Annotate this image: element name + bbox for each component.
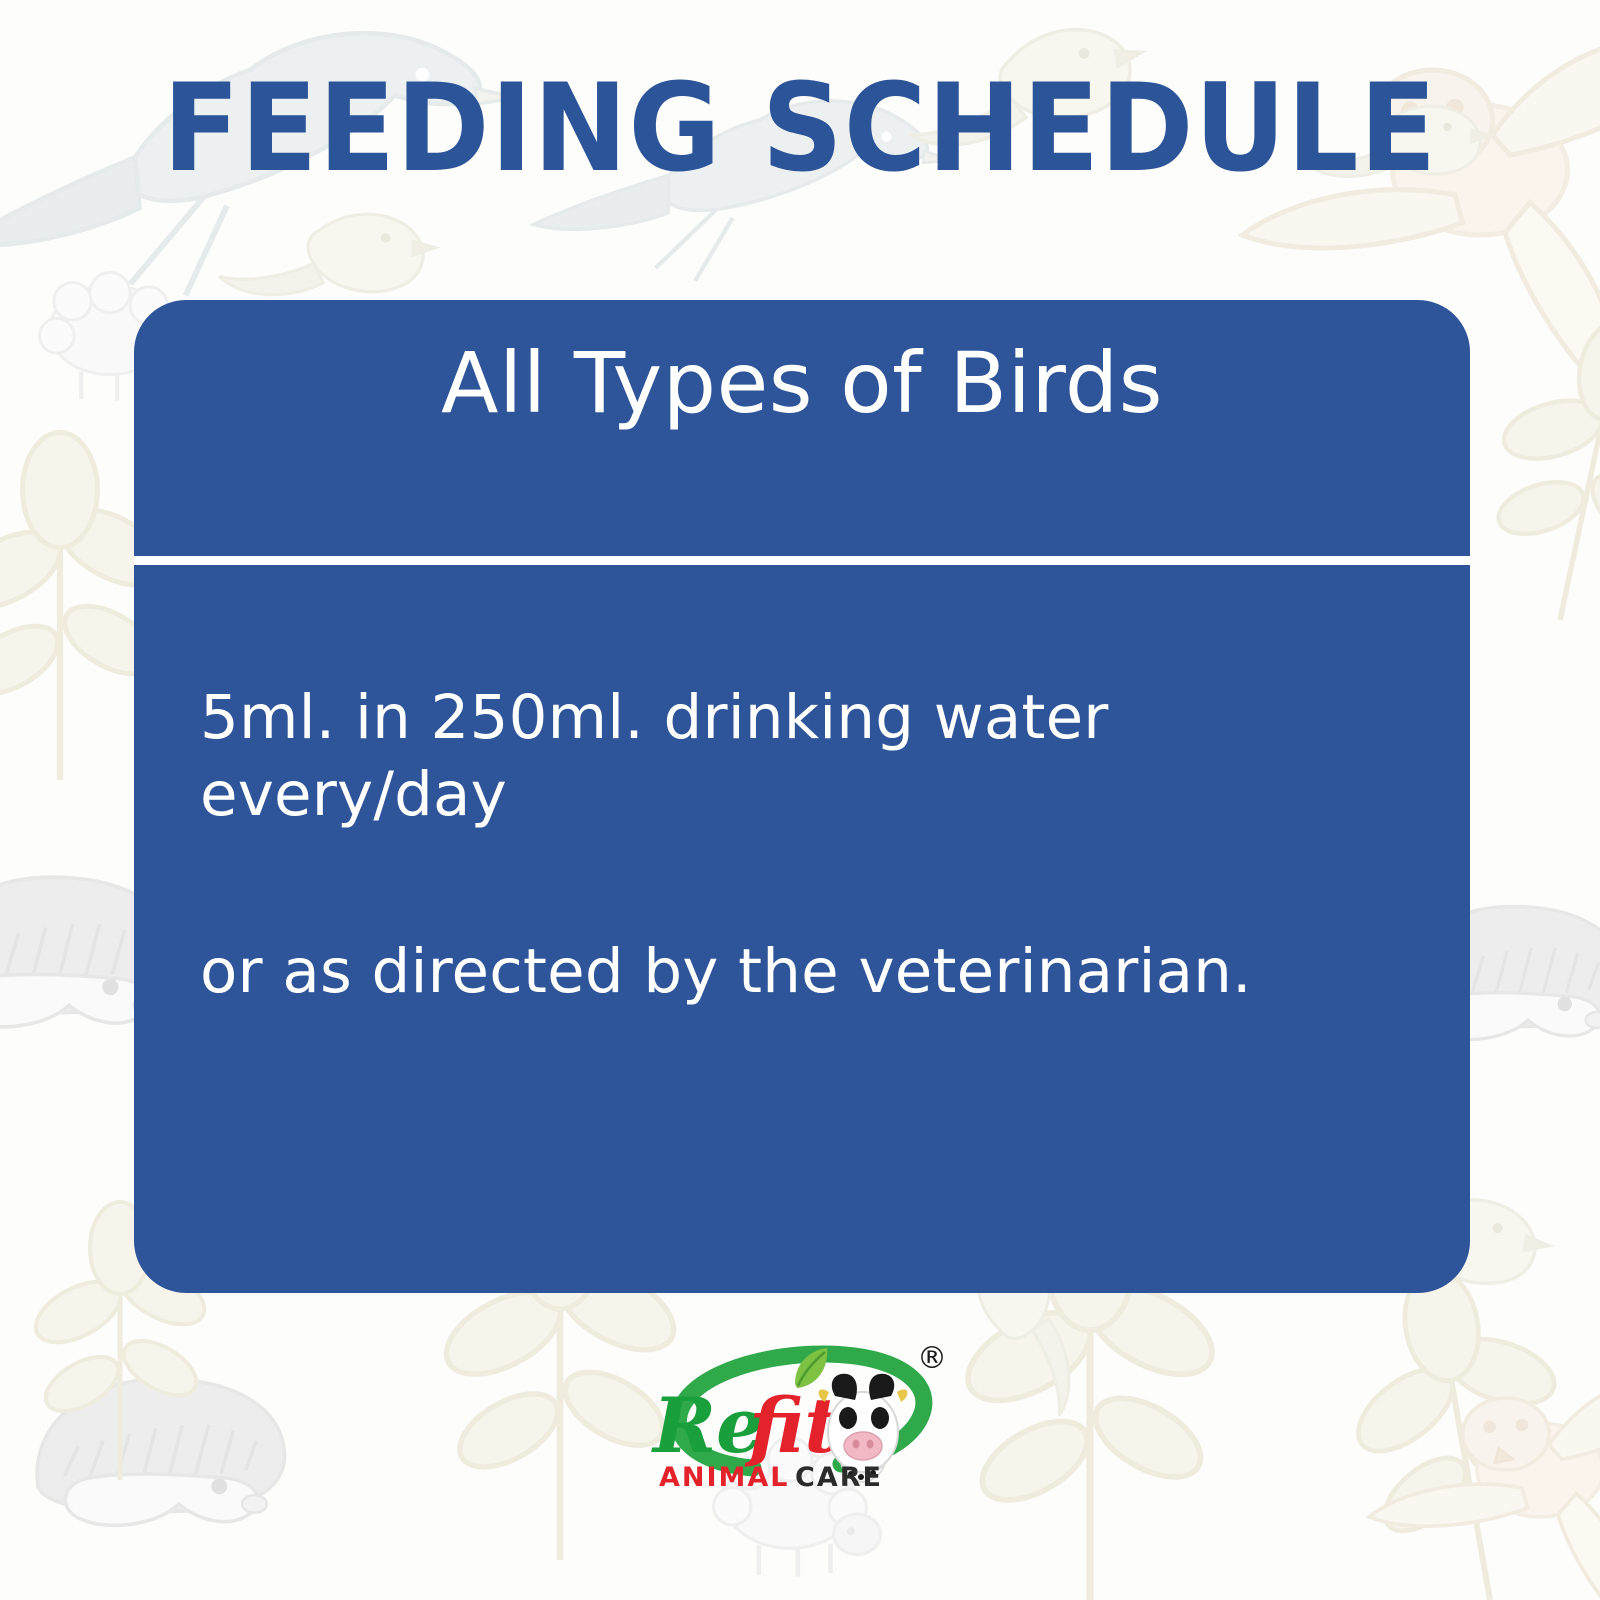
- feeding-schedule-card: All Types of Birds 5ml. in 250ml. drinki…: [134, 300, 1470, 1293]
- veterinarian-note-line: or as directed by the veterinarian.: [200, 934, 1420, 1011]
- dosage-line: 5ml. in 250ml. drinking water every/day: [200, 680, 1420, 834]
- refit-animal-care-logo: Re fit: [645, 1340, 955, 1490]
- poster-canvas: FEEDING SCHEDULE All Types of Birds 5ml.…: [0, 0, 1600, 1600]
- card-divider: [134, 556, 1470, 565]
- logo-tagline-animal: ANIMAL: [659, 1462, 790, 1490]
- logo-tagline-care: CARE: [795, 1462, 883, 1490]
- logo-brand-green: Re: [651, 1381, 765, 1470]
- card-body: 5ml. in 250ml. drinking water every/day …: [200, 680, 1420, 1011]
- card-heading: All Types of Birds: [134, 336, 1470, 430]
- page-title: FEEDING SCHEDULE: [56, 68, 1544, 189]
- registered-trademark-icon: ®: [917, 1341, 947, 1376]
